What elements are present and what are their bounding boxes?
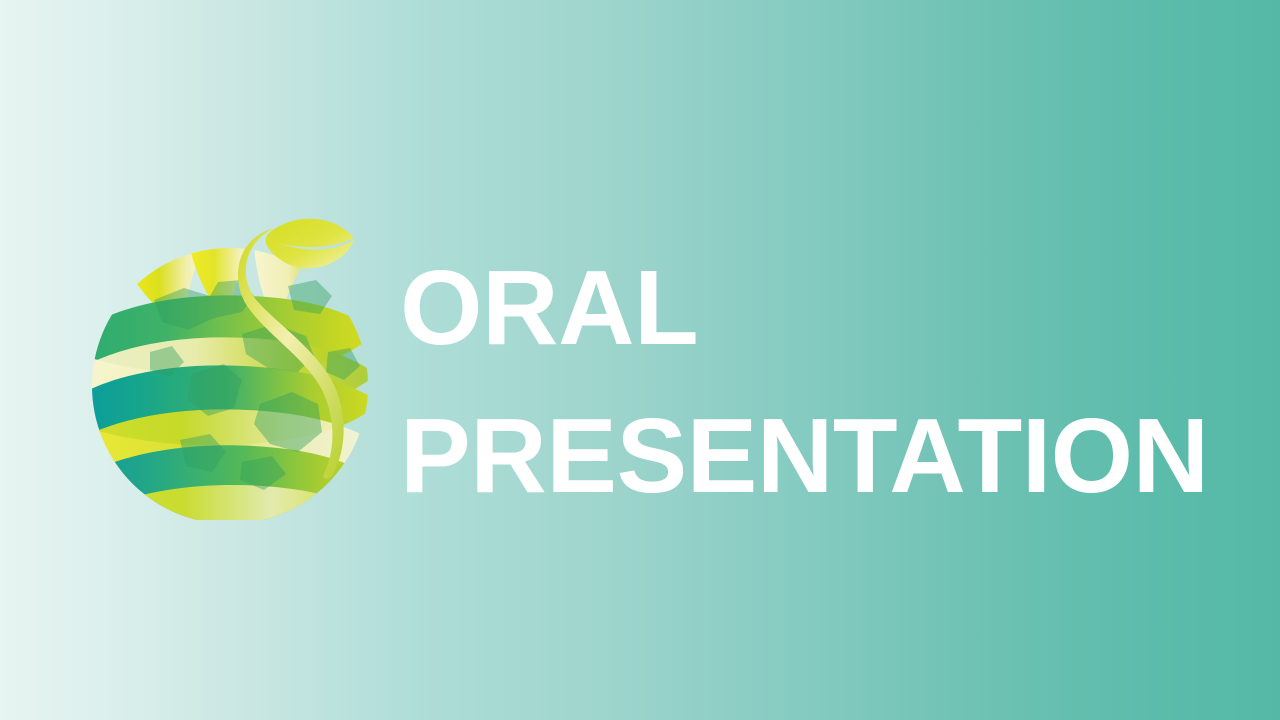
presentation-slide: ORAL PRESENTATION bbox=[0, 0, 1280, 720]
title-line-2: PRESENTATION bbox=[400, 382, 1200, 530]
title-line-1: ORAL bbox=[400, 234, 1200, 382]
globe-ribbon-leaf-logo bbox=[92, 204, 384, 520]
page-title: ORAL PRESENTATION bbox=[400, 234, 1200, 530]
globe-graphic bbox=[92, 204, 384, 520]
